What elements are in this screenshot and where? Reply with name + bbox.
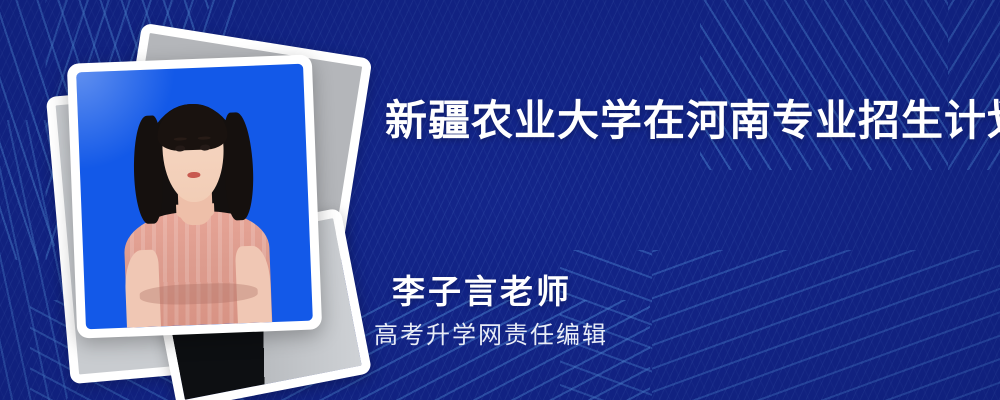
author-name: 李子言老师	[392, 272, 572, 312]
article-header-banner: 新疆农业大学在河南专业招生计划 李子言老师 高考升学网责任编辑	[0, 0, 1000, 400]
portrait-eye-left	[176, 145, 186, 151]
portrait-fringe	[156, 103, 228, 152]
editor-photo	[76, 64, 313, 330]
chevron-right-bottom-icon	[560, 250, 1000, 400]
editor-photo-frame	[67, 54, 322, 338]
photo-stack	[50, 35, 350, 365]
banner-title: 新疆农业大学在河南专业招生计划	[385, 96, 1000, 146]
author-role-label: 高考升学网责任编辑	[374, 320, 608, 352]
portrait-illustration	[76, 64, 313, 330]
portrait-hair-right	[223, 112, 254, 221]
portrait-eye-right	[200, 144, 210, 150]
